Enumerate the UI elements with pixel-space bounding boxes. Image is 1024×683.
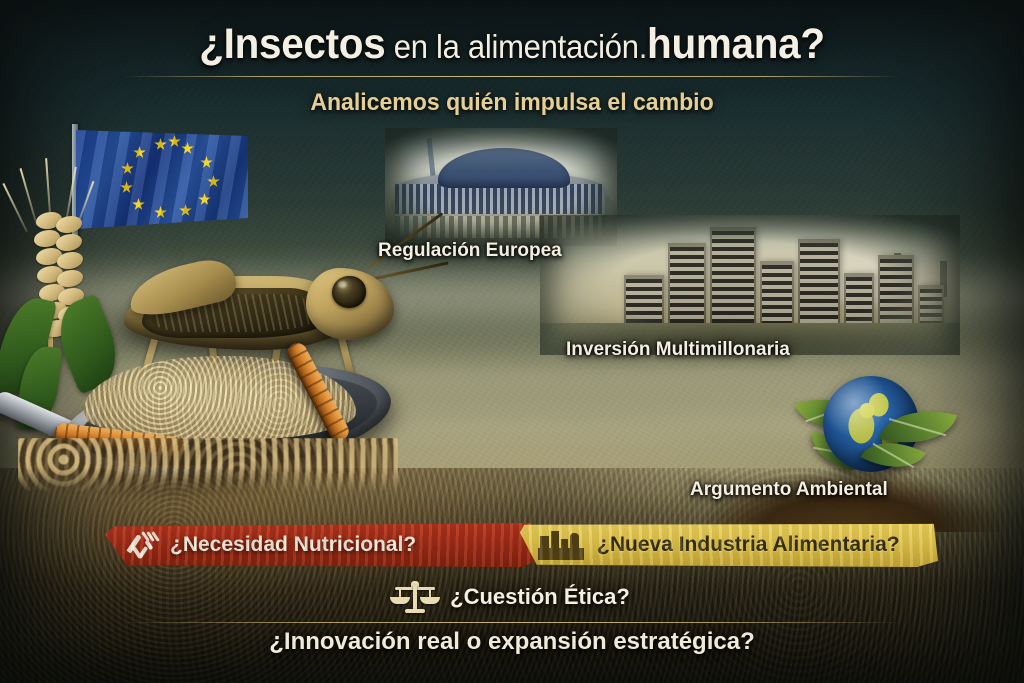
flag-star-icon <box>133 146 146 159</box>
banner-row: ¿Necesidad Nutricional? ¿Nueva Industria… <box>0 523 1024 569</box>
banner-label: ¿Necesidad Nutricional? <box>170 533 416 557</box>
parliament-mast <box>427 138 439 204</box>
office-towers-skyline-image <box>540 215 960 355</box>
title-divider <box>122 76 902 77</box>
wheat-grain <box>56 216 82 233</box>
flag-star-icon <box>121 162 134 175</box>
ethics-label: ¿Cuestión Ética? <box>450 584 630 610</box>
wheat-grain <box>57 252 83 269</box>
header: ¿Insectos en la alimentación.humana? Ana… <box>0 22 1024 117</box>
flag-star-icon <box>181 142 194 155</box>
city-image-fade <box>540 215 960 355</box>
parliament-dome <box>438 148 570 188</box>
flag-cloth <box>76 130 248 230</box>
factory-icon <box>538 530 584 560</box>
fork-knife-icon <box>123 530 157 560</box>
earth-globe-with-leaves-image <box>805 372 925 490</box>
city-building <box>624 275 664 335</box>
smokestack <box>940 261 947 297</box>
city-building <box>760 261 794 335</box>
city-building <box>798 239 840 335</box>
city-building <box>668 243 706 335</box>
banner-nueva-industria-alimentaria[interactable]: ¿Nueva Industria Alimentaria? <box>520 523 938 567</box>
closing-divider <box>120 622 904 623</box>
smokestack <box>894 253 901 297</box>
flag-star-icon <box>179 204 192 217</box>
title-part-end: humana? <box>647 20 825 68</box>
banner-necesidad-nutricional[interactable]: ¿Necesidad Nutricional? <box>105 523 540 567</box>
flag-star-icon <box>198 193 211 206</box>
parliament-left-wing <box>389 192 447 226</box>
spoon-with-insect-flour-image <box>18 352 390 490</box>
flag-star-icon <box>120 181 133 194</box>
title-part-middle: en la alimentación. <box>385 28 647 65</box>
city-smoke-haze <box>802 215 960 303</box>
city-building <box>844 273 874 335</box>
page-subtitle: Analicemos quién impulsa el cambio <box>20 89 1003 117</box>
city-building <box>878 255 914 335</box>
city-building <box>918 285 944 335</box>
grasshopper-eye <box>332 276 366 308</box>
label-inversion-multimillonaria: Inversión Multimillonaria <box>566 339 790 361</box>
city-building <box>710 227 756 335</box>
flag-star-icon <box>207 175 220 188</box>
label-argumento-ambiental: Argumento Ambiental <box>690 479 888 501</box>
city-sky <box>540 215 960 355</box>
page-title: ¿Insectos en la alimentación.humana? <box>31 22 994 67</box>
scales-icon <box>394 581 436 613</box>
wheat-grain <box>56 234 82 251</box>
flag-star-icon <box>154 138 167 151</box>
flag-star-icon <box>154 206 167 219</box>
wheat-awn <box>2 183 27 232</box>
flag-star-icon <box>200 156 213 169</box>
ethics-row[interactable]: ¿Cuestión Ética? <box>0 578 1024 616</box>
flag-star-icon <box>132 198 145 211</box>
title-part-main: ¿Insectos <box>199 20 385 68</box>
label-regulacion-europea: Regulación Europea <box>378 240 562 262</box>
wheat-awn <box>20 168 38 226</box>
soil-pebbles <box>18 438 398 492</box>
poster-root: ¿Insectos en la alimentación.humana? Ana… <box>0 0 1024 683</box>
closing-statement: ¿Innovación real o expansión estratégica… <box>0 628 1024 656</box>
flag-star-icon <box>168 135 181 148</box>
banner-label: ¿Nueva Industria Alimentaria? <box>597 533 900 557</box>
